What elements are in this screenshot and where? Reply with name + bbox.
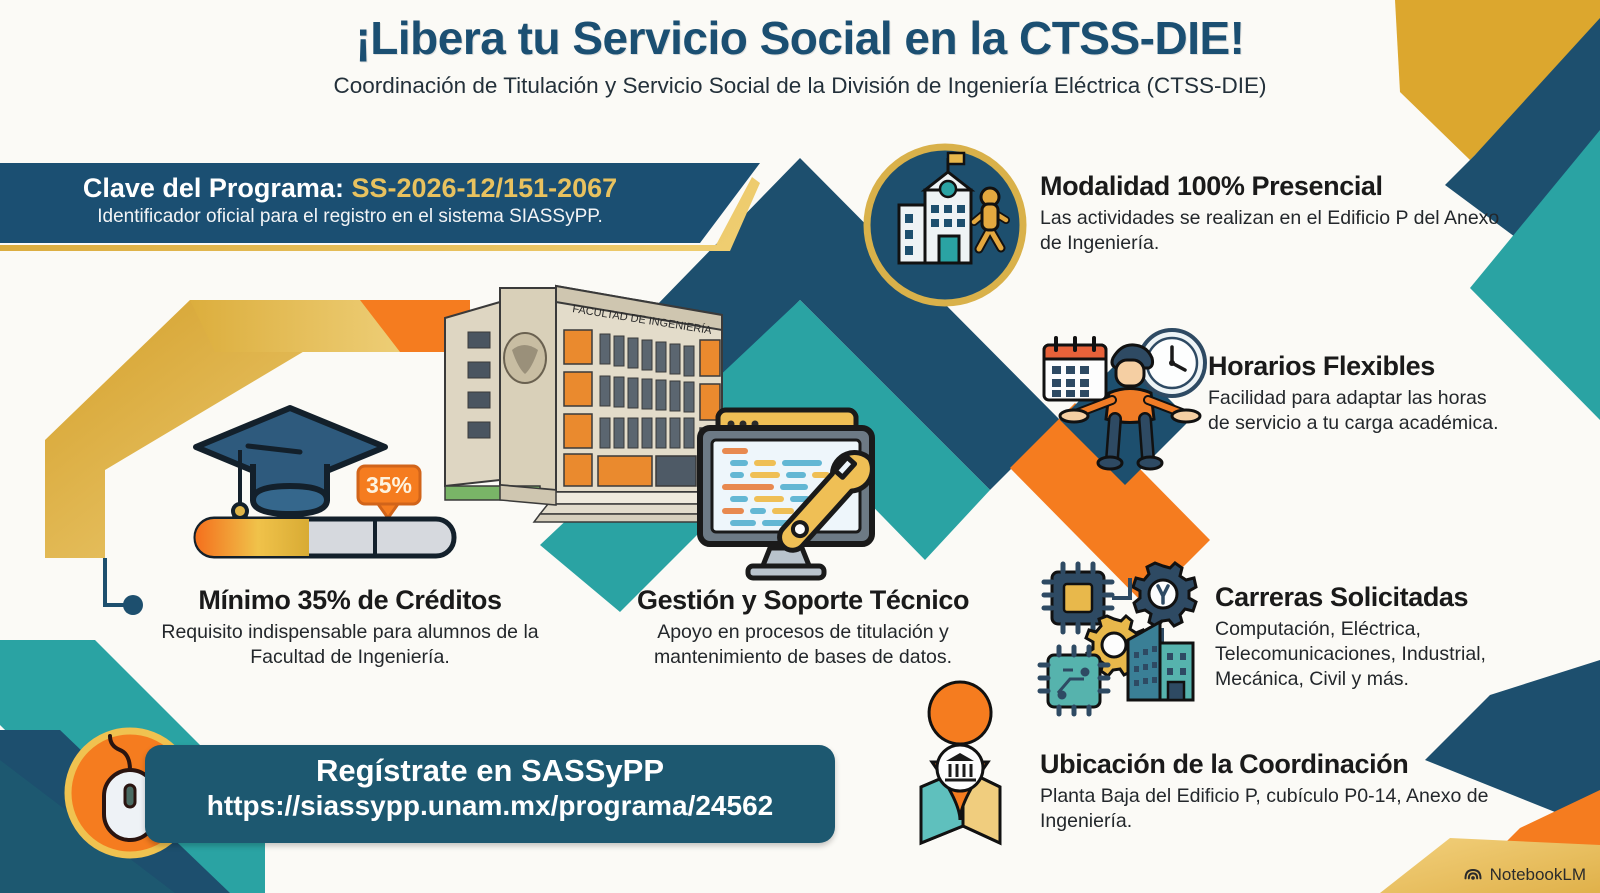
notebooklm-logo-icon bbox=[1463, 865, 1483, 885]
page-title: ¡Libera tu Servicio Social en la CTSS-DI… bbox=[0, 14, 1600, 62]
feature-soporte-desc: Apoyo en procesos de titulación y manten… bbox=[598, 620, 1008, 670]
page-subtitle: Coordinación de Titulación y Servicio So… bbox=[0, 72, 1600, 99]
feature-creditos: Mínimo 35% de Créditos Requisito indispe… bbox=[140, 586, 560, 670]
watermark-label: NotebookLM bbox=[1490, 865, 1586, 885]
program-key-code: SS-2026-12/151-2067 bbox=[351, 173, 617, 203]
feature-ubicacion-desc: Planta Baja del Edificio P, cubículo P0-… bbox=[1040, 784, 1510, 834]
feature-horarios: Horarios Flexibles Facilidad para adapta… bbox=[1208, 352, 1508, 436]
cta-url[interactable]: https://siassypp.unam.mx/programa/24562 bbox=[145, 789, 835, 823]
notebooklm-watermark: NotebookLM bbox=[1463, 865, 1586, 885]
feature-ubicacion-title: Ubicación de la Coordinación bbox=[1040, 750, 1510, 780]
feature-carreras: Carreras Solicitadas Computación, Eléctr… bbox=[1215, 583, 1550, 692]
feature-soporte-title: Gestión y Soporte Técnico bbox=[598, 586, 1008, 616]
feature-ubicacion: Ubicación de la Coordinación Planta Baja… bbox=[1040, 750, 1510, 834]
banner-text: Clave del Programa: SS-2026-12/151-2067 … bbox=[0, 173, 700, 228]
feature-creditos-title: Mínimo 35% de Créditos bbox=[140, 586, 560, 616]
feature-horarios-title: Horarios Flexibles bbox=[1208, 352, 1508, 382]
infographic-poster: ¡Libera tu Servicio Social en la CTSS-DI… bbox=[0, 0, 1600, 893]
feature-soporte: Gestión y Soporte Técnico Apoyo en proce… bbox=[598, 586, 1008, 670]
program-key-note: Identificador oficial para el registro e… bbox=[0, 206, 700, 228]
feature-horarios-desc: Facilidad para adaptar las horas de serv… bbox=[1208, 386, 1508, 436]
feature-modalidad: Modalidad 100% Presencial Las actividade… bbox=[1040, 172, 1510, 256]
feature-modalidad-desc: Las actividades se realizan en el Edific… bbox=[1040, 206, 1510, 256]
program-key-banner: Clave del Programa: SS-2026-12/151-2067 … bbox=[0, 163, 760, 259]
cta-title: Regístrate en SASSyPP bbox=[145, 753, 835, 789]
feature-carreras-desc: Computación, Eléctrica, Telecomunicacion… bbox=[1215, 617, 1550, 692]
feature-creditos-desc: Requisito indispensable para alumnos de … bbox=[140, 620, 560, 670]
program-key-label: Clave del Programa: bbox=[83, 173, 344, 203]
feature-modalidad-title: Modalidad 100% Presencial bbox=[1040, 172, 1510, 202]
feature-carreras-title: Carreras Solicitadas bbox=[1215, 583, 1550, 613]
register-cta[interactable]: Regístrate en SASSyPP https://siassypp.u… bbox=[145, 745, 835, 843]
poster-header: ¡Libera tu Servicio Social en la CTSS-DI… bbox=[0, 14, 1600, 99]
